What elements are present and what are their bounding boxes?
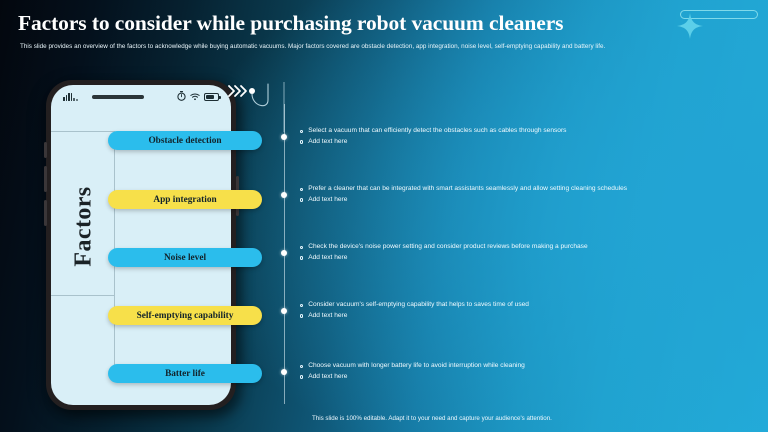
bullet-text: Consider vacuum's self-emptying capabili… [308,300,529,311]
bullet-circle-icon [300,130,303,133]
bullet-text: Choose vacuum with longer battery life t… [308,361,525,372]
list-item: Consider vacuum's self-emptying capabili… [300,300,762,311]
phone-volume-down-button [44,200,47,226]
bullet-group-batter-life: Choose vacuum with longer battery life t… [300,361,762,383]
page-title: Factors to consider while purchasing rob… [18,12,708,36]
bullet-circle-icon [300,365,303,368]
bullet-circle-icon [300,256,303,259]
screen-guide-line-top [51,131,114,132]
list-item: Choose vacuum with longer battery life t… [300,361,762,372]
bullet-text: Add text here [308,195,347,206]
bullet-group-app-integration: Prefer a cleaner that can be integrated … [300,184,762,206]
speaker-notch-icon [92,95,144,98]
bullet-group-self-emptying-capability: Consider vacuum's self-emptying capabili… [300,300,762,322]
timer-icon [177,88,186,106]
bullet-text: Select a vacuum that can efficiently det… [308,126,566,137]
curved-connector [228,82,298,132]
four-point-sparkle-icon [676,12,704,40]
timeline-dot-5 [281,369,287,375]
bullet-text: Prefer a cleaner that can be integrated … [308,184,627,195]
bullet-circle-icon [300,314,303,317]
slide-footer-note: This slide is 100% editable. Adapt it to… [312,415,552,422]
battery-icon [204,93,219,101]
bullet-group-obstacle-detection: Select a vacuum that can efficiently det… [300,126,762,148]
timeline-dot-3 [281,250,287,256]
bullet-circle-icon [300,188,303,191]
screen-guide-line-bottom [51,295,114,296]
bullet-text: Add text here [308,137,347,148]
list-item: Prefer a cleaner that can be integrated … [300,184,762,195]
bullet-text: Add text here [308,311,347,322]
bullet-circle-icon [300,375,303,378]
connector-start-dot [249,88,255,94]
list-item: Check the device's noise power setting a… [300,242,762,253]
timeline-dot-2 [281,192,287,198]
list-item: Add text here [300,372,762,383]
timeline-dot-4 [281,308,287,314]
list-item: Add text here [300,311,762,322]
bullet-circle-icon [300,198,303,201]
phone-volume-up-button [44,166,47,192]
factor-pill-app-integration[interactable]: App integration [108,190,262,209]
triple-chevron-right-icon [229,86,246,96]
bullet-circle-icon [300,246,303,249]
factor-pill-batter-life[interactable]: Batter life [108,364,262,383]
phone-statusbar [51,85,231,109]
timeline-dot-1 [281,134,287,140]
phone-mockup: Factors [46,80,236,410]
list-item: Select a vacuum that can efficiently det… [300,126,762,137]
presentation-slide: Factors to consider while purchasing rob… [0,0,768,432]
page-subtitle: This slide provides an overview of the f… [20,43,748,51]
list-item: Add text here [300,137,762,148]
factors-vertical-label: Factors [71,172,98,282]
bullet-circle-icon [300,140,303,143]
bullet-text: Check the device's noise power setting a… [308,242,587,253]
factor-pill-self-emptying-capability[interactable]: Self-emptying capability [108,306,262,325]
signal-bars-icon [63,93,78,101]
factor-pill-noise-level[interactable]: Noise level [108,248,262,267]
list-item: Add text here [300,195,762,206]
bullet-circle-icon [300,304,303,307]
phone-mute-button [44,142,47,158]
list-item: Add text here [300,253,762,264]
bullet-group-noise-level: Check the device's noise power setting a… [300,242,762,264]
bullet-text: Add text here [308,372,347,383]
bullet-text: Add text here [308,253,347,264]
wifi-icon [190,88,200,106]
factor-pill-obstacle-detection[interactable]: Obstacle detection [108,131,262,150]
